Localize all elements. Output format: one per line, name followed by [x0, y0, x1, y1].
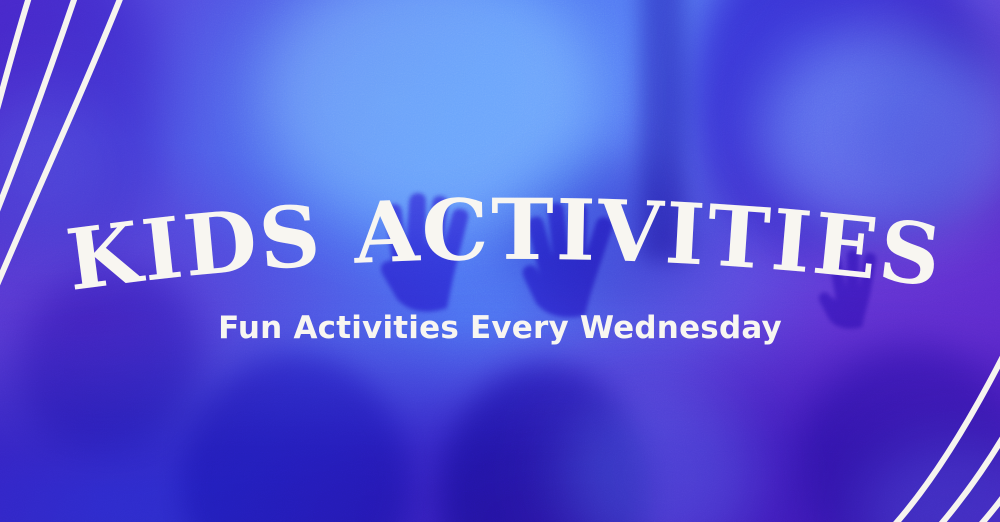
raised-hands-silhouette [0, 0, 1000, 522]
duotone-photo-background [0, 0, 1000, 522]
kids-activities-banner: KIDS ACTIVITIES Fun Activities Every Wed… [0, 0, 1000, 522]
